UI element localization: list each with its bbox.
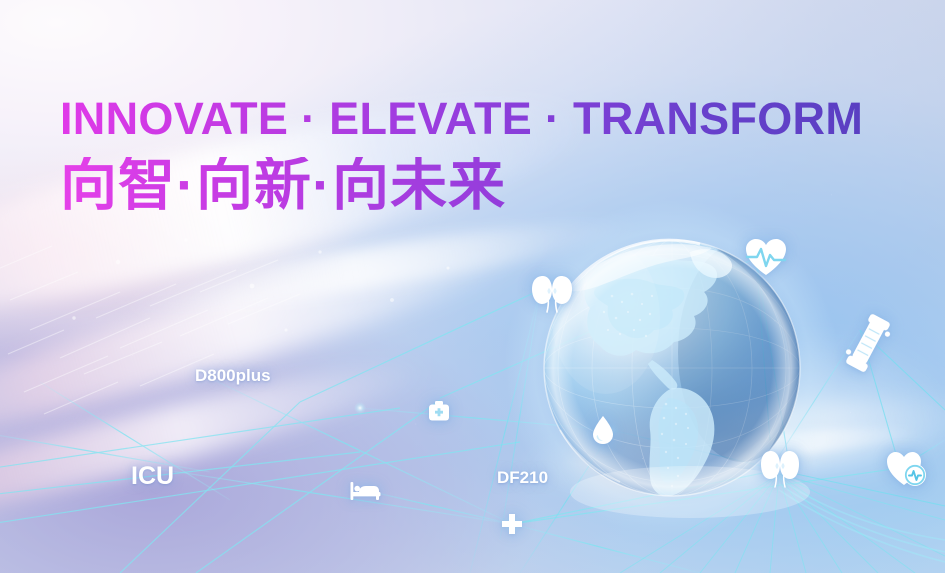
hero-banner: INNOVATE · ELEVATE · TRANSFORM 向智·向新·向未来… (0, 0, 945, 573)
particle-speckle (0, 0, 945, 573)
